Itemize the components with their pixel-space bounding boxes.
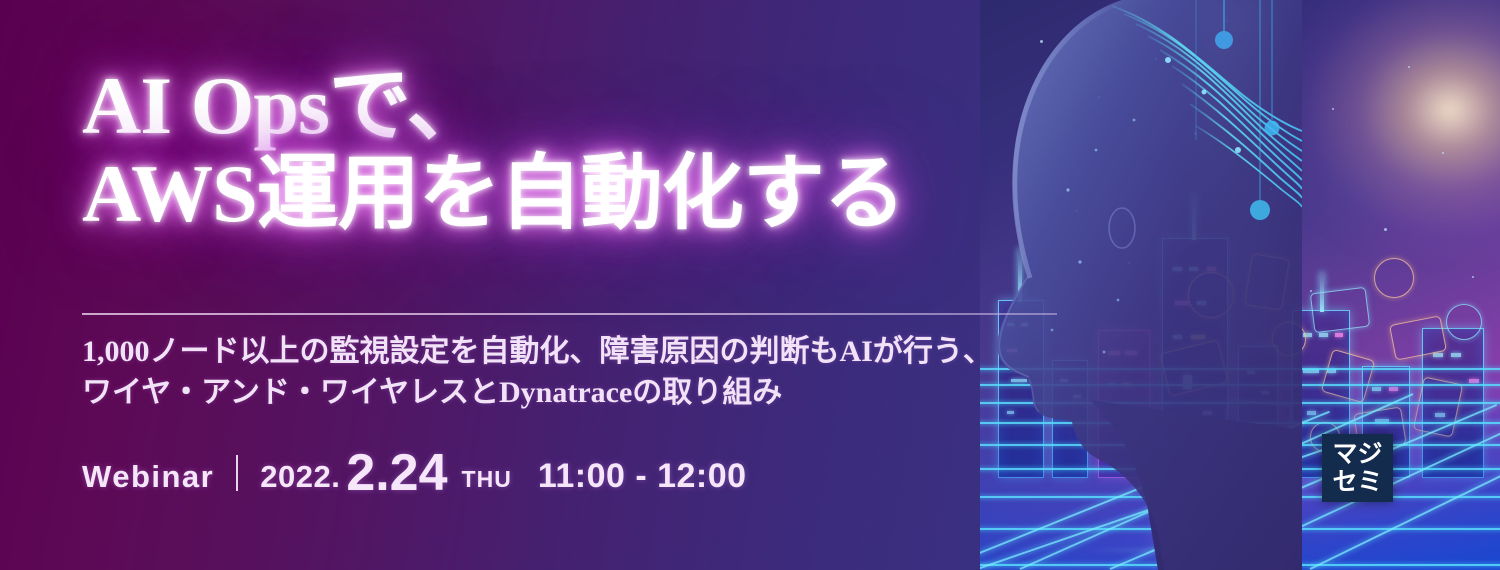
webinar-banner: AI Opsで、 AWS運用を自動化する 1,000ノード以上の監視設定を自動化… [0,0,1500,570]
title-line-2: AWS運用を自動化する [82,150,905,238]
subtitle-line-2: ワイヤ・アンド・ワイヤレスとDynatraceの取り組み [82,372,993,413]
subtitle: 1,000ノード以上の監視設定を自動化、障害原因の判断もAIが行う、 ワイヤ・ア… [82,331,993,413]
event-meta: Webinar 2022. 2.24 THU 11:00 - 12:00 [82,440,747,500]
title-line-1: AI Opsで、 [82,60,488,151]
majisemi-logo[interactable]: マジ セミ [1322,434,1393,502]
title-divider [82,313,1057,315]
event-day-of-week: THU [462,466,512,493]
logo-line-2: セミ [1332,468,1382,496]
meta-separator [236,455,238,491]
event-date: 2.24 [346,443,447,503]
event-time: 11:00 - 12:00 [538,457,747,496]
event-year: 2022. [260,459,340,495]
subtitle-line-1: 1,000ノード以上の監視設定を自動化、障害原因の判断もAIが行う、 [82,331,993,372]
event-type-label: Webinar [82,459,214,495]
page-title: AI Opsで、 AWS運用を自動化する [82,62,905,238]
logo-line-1: マジ [1332,440,1382,468]
banner-content: AI Opsで、 AWS運用を自動化する 1,000ノード以上の監視設定を自動化… [82,0,1082,570]
